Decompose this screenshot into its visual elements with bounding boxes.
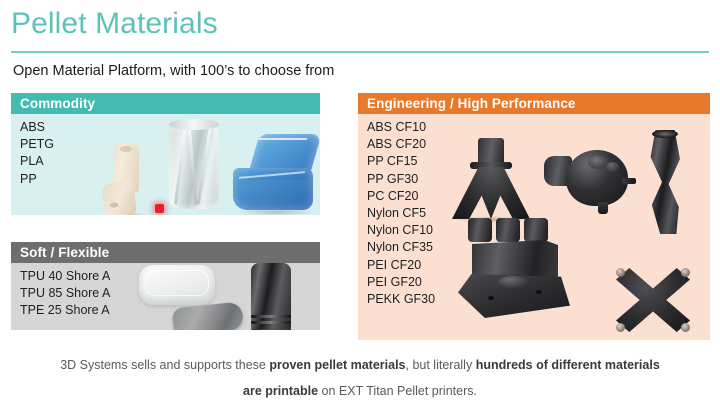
list-item: ABS bbox=[20, 119, 54, 136]
page-subtitle: Open Material Platform, with 100’s to ch… bbox=[13, 61, 334, 81]
white-cushion-photo bbox=[139, 265, 215, 305]
list-item: PLA bbox=[20, 153, 54, 170]
list-item: TPU 85 Shore A bbox=[20, 285, 110, 302]
page-title: Pellet Materials bbox=[11, 6, 218, 42]
list-item: Nylon CF5 bbox=[367, 205, 435, 222]
list-item: PP CF15 bbox=[367, 153, 435, 170]
soft-flexible-panel-body: TPU 40 Shore A TPU 85 Shore A TPE 25 Sho… bbox=[11, 263, 320, 330]
commodity-panel-body: ABS PETG PLA PP bbox=[11, 114, 320, 215]
engineering-panel-title: Engineering / High Performance bbox=[358, 96, 576, 111]
list-item: PEI CF20 bbox=[367, 257, 435, 274]
black-wedge-bracket-photo bbox=[458, 240, 576, 322]
soft-flexible-panel-title: Soft / Flexible bbox=[11, 245, 109, 260]
black-manifold-photo bbox=[452, 138, 530, 222]
commodity-panel: Commodity ABS PETG PLA PP bbox=[11, 93, 320, 215]
blue-chair-photo bbox=[233, 134, 317, 215]
list-item: Nylon CF35 bbox=[367, 239, 435, 256]
slide-canvas: Pellet Materials Open Material Platform,… bbox=[0, 0, 720, 405]
black-x-bracket-photo bbox=[612, 264, 694, 336]
translucent-vase-photo bbox=[163, 119, 225, 215]
list-item: PEKK GF30 bbox=[367, 291, 435, 308]
soft-flexible-material-list: TPU 40 Shore A TPU 85 Shore A TPE 25 Sho… bbox=[20, 268, 110, 320]
footer-bold-2: hundreds of different bbox=[476, 358, 602, 372]
black-duct-photo bbox=[640, 130, 694, 238]
list-item: Nylon CF10 bbox=[367, 222, 435, 239]
footer-text-3: on EXT Titan Pellet printers. bbox=[318, 384, 477, 398]
list-item: PP GF30 bbox=[367, 171, 435, 188]
engineering-panel-header: Engineering / High Performance bbox=[358, 93, 710, 114]
soft-flexible-panel: Soft / Flexible TPU 40 Shore A TPU 85 Sh… bbox=[11, 242, 320, 330]
engineering-panel: Engineering / High Performance ABS CF10 … bbox=[358, 93, 710, 340]
list-item: PETG bbox=[20, 136, 54, 153]
list-item: PC CF20 bbox=[367, 188, 435, 205]
list-item: ABS CF10 bbox=[367, 119, 435, 136]
red-marker-dot-icon bbox=[155, 204, 164, 213]
footer-caption: 3D Systems sells and supports these prov… bbox=[60, 352, 660, 404]
black-housing-photo bbox=[544, 144, 636, 216]
list-item: ABS CF20 bbox=[367, 136, 435, 153]
engineering-material-list: ABS CF10 ABS CF20 PP CF15 PP GF30 PC CF2… bbox=[367, 119, 435, 308]
prosthetic-part-photo bbox=[103, 144, 145, 215]
list-item: TPE 25 Shore A bbox=[20, 302, 110, 319]
black-cylinders-photo bbox=[468, 218, 554, 244]
commodity-panel-header: Commodity bbox=[11, 93, 320, 114]
commodity-panel-title: Commodity bbox=[11, 96, 95, 111]
footer-text-1: 3D Systems sells and supports these bbox=[60, 358, 269, 372]
list-item: TPU 40 Shore A bbox=[20, 268, 110, 285]
list-item: PEI GF20 bbox=[367, 274, 435, 291]
commodity-material-list: ABS PETG PLA PP bbox=[20, 119, 54, 188]
soft-flexible-panel-header: Soft / Flexible bbox=[11, 242, 320, 263]
footer-bold-1: proven pellet materials bbox=[269, 358, 405, 372]
grey-insole-photo bbox=[173, 305, 243, 330]
footer-text-2: , but literally bbox=[406, 358, 476, 372]
title-divider bbox=[11, 51, 709, 53]
list-item: PP bbox=[20, 171, 54, 188]
engineering-panel-body: ABS CF10 ABS CF20 PP CF15 PP GF30 PC CF2… bbox=[358, 114, 710, 340]
black-twisted-vase-photo bbox=[243, 263, 299, 330]
